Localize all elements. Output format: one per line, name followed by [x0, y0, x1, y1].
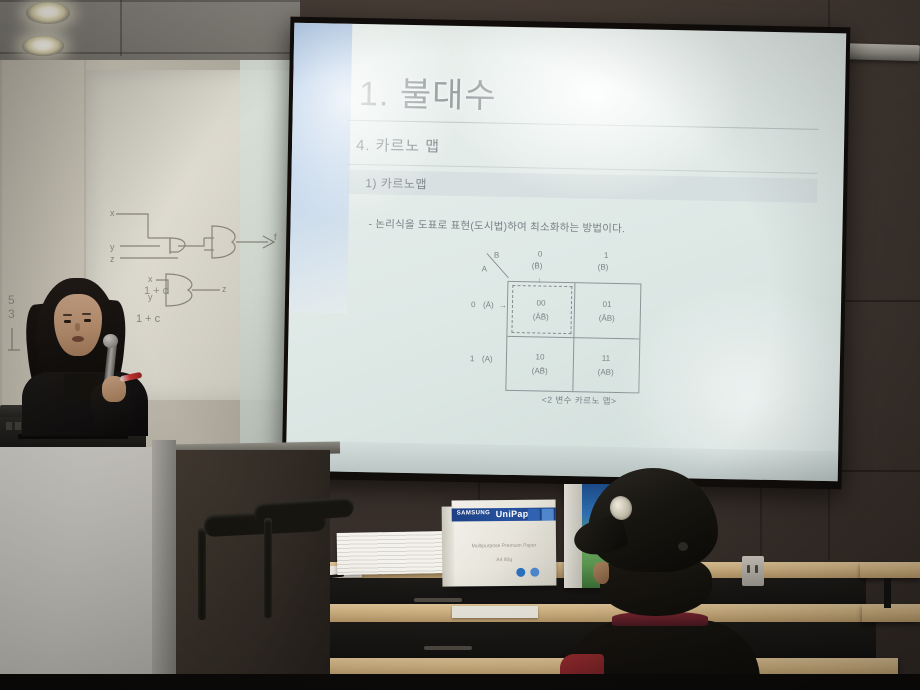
kmap-row-arrow: → — [499, 301, 507, 310]
slide-section-heading: 4. 카르노 맵 — [356, 134, 440, 157]
svg-text:3: 3 — [8, 307, 15, 321]
paper-box: SAMSUNG UniPaper Multipurpose Premium Pa… — [452, 499, 557, 586]
svg-text:x: x — [110, 208, 115, 218]
presenter — [18, 278, 144, 418]
kmap-caption: <2 변수 카르노 맵> — [509, 393, 649, 408]
kmap-cell-11: 11 (AB) — [572, 337, 639, 392]
kmap-cell-10-term: (AB̄) — [532, 366, 548, 375]
svg-text:f: f — [274, 232, 277, 242]
kmap-row-header-1-value: 1 — [470, 354, 475, 363]
nose — [75, 323, 80, 331]
whiteboard-notes: 1 + c — [142, 278, 186, 304]
paper-box-icon — [516, 568, 525, 577]
samsung-logo: SAMSUNG — [457, 510, 491, 516]
student-ear — [593, 562, 609, 584]
desk-right-upper — [860, 562, 920, 578]
floor-shadow — [0, 674, 920, 690]
seated-student — [560, 468, 760, 690]
svg-text:z: z — [110, 254, 115, 264]
ceiling-light — [22, 36, 64, 56]
presentation-slide: 1. 불대수 4. 카르노 맵 1) 카르노맵 - 논리식을 도표로 표현(도시… — [286, 23, 846, 482]
microphone-head — [103, 334, 118, 348]
karnaugh-map-figure: B A 0 (B̄) 1 (B) 0 (Ā) → 1 (A) 00 — [465, 250, 668, 414]
desk-leg — [884, 578, 891, 608]
kmap-cell-11-code: 11 — [602, 353, 610, 362]
slide-body-text: - 논리식을 도표로 표현(도시법)하여 최소화하는 방법이다. — [368, 216, 625, 236]
kmap-row-header-0-sub: (Ā) — [483, 300, 494, 309]
projection-screen: 1. 불대수 4. 카르노 맵 1) 카르노맵 - 논리식을 도표로 표현(도시… — [282, 17, 851, 490]
kmap-col-header-0-sub: (B̄) — [532, 261, 543, 270]
svg-text:5: 5 — [8, 293, 15, 307]
kmap-col-header-1-value: 1 — [604, 251, 609, 260]
desk-handle — [424, 646, 472, 650]
paper-stack — [337, 531, 448, 575]
desk-handle — [414, 598, 462, 602]
kmap-cell-10-code: 10 — [535, 352, 544, 361]
paper-box-icon — [530, 568, 539, 577]
kmap-row-header-1-sub: (A) — [482, 354, 493, 363]
svg-text:1 + c: 1 + c — [144, 285, 169, 297]
lecture-hall-photo: x y z f x y z 1 + c 5 3 1 + c 1. 불대수 4. … — [0, 0, 920, 690]
kmap-cell-01: 01 (ĀB) — [573, 283, 640, 338]
paper-box-detail-1: Multipurpose Premium Paper — [452, 541, 556, 551]
slide-subsection-heading: 1) 카르노맵 — [365, 174, 427, 192]
cabinet — [170, 450, 330, 690]
power-outlet — [742, 556, 764, 586]
divider — [348, 120, 818, 130]
chair-leg — [198, 528, 206, 620]
mouth — [72, 336, 84, 342]
cap-button — [678, 542, 688, 551]
kmap-row-var: A — [482, 264, 488, 273]
paper-box-detail-2: A4 80g — [452, 555, 556, 565]
paper-box-color-square — [542, 508, 554, 520]
desk-right-lower — [862, 604, 920, 622]
chair-leg — [264, 518, 272, 618]
podium-side-panel — [152, 440, 176, 690]
screen-surface: 1. 불대수 4. 카르노 맵 1) 카르노맵 - 논리식을 도표로 표현(도시… — [286, 23, 846, 482]
kmap-cell-11-term: (AB) — [598, 367, 614, 376]
podium: SMU — [0, 447, 155, 690]
kmap-cell-10: 10 (AB̄) — [506, 336, 573, 391]
svg-text:z: z — [222, 284, 227, 294]
kmap-col-var: B — [494, 251, 500, 260]
kmap-col-header-0-value: 0 — [538, 249, 543, 258]
ceiling-light — [26, 2, 70, 24]
kmap-highlight-box — [511, 285, 572, 334]
kmap-col-header-1-sub: (B) — [598, 263, 609, 272]
slide-title: 1. 불대수 — [359, 66, 498, 118]
kmap-cell-01-code: 01 — [602, 299, 611, 308]
svg-text:y: y — [110, 242, 115, 252]
kmap-top-arrow: ↓ — [537, 275, 541, 284]
kmap-cell-01-term: (ĀB) — [599, 313, 615, 322]
paper-sheet — [452, 606, 538, 618]
paper-box-color-square — [528, 509, 540, 521]
kmap-row-header-0-value: 0 — [471, 300, 476, 309]
